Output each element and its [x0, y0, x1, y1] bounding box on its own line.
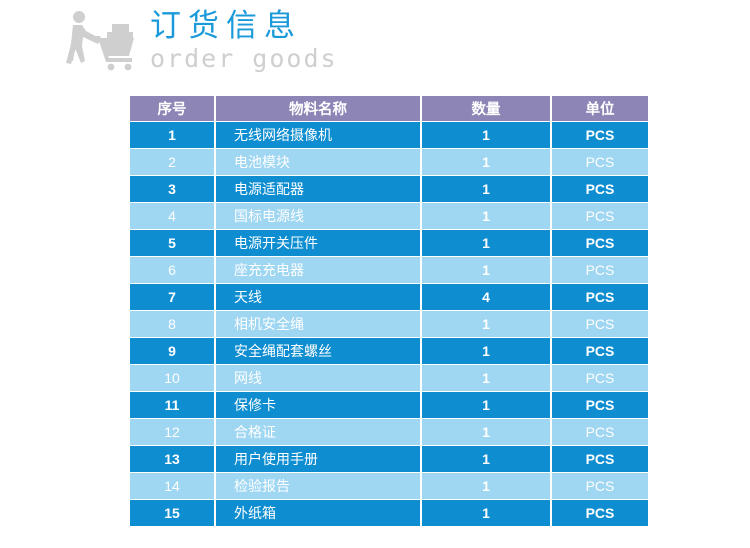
cell-quantity: 1: [422, 122, 550, 148]
table-row: 5电源开关压件1PCS: [130, 230, 648, 256]
cell-index: 5: [130, 230, 214, 256]
cell-quantity: 1: [422, 473, 550, 499]
table-row: 3电源适配器1PCS: [130, 176, 648, 202]
cell-quantity: 1: [422, 230, 550, 256]
cell-index: 8: [130, 311, 214, 337]
cell-unit: PCS: [552, 203, 648, 229]
column-header-index: 序号: [130, 96, 214, 121]
column-header-qty: 数量: [422, 96, 550, 121]
cell-index: 15: [130, 500, 214, 526]
cell-material-name: 座充充电器: [216, 257, 420, 283]
cell-unit: PCS: [552, 149, 648, 175]
table-row: 10网线1PCS: [130, 365, 648, 391]
table-row: 13用户使用手册1PCS: [130, 446, 648, 472]
cell-unit: PCS: [552, 338, 648, 364]
cell-material-name: 网线: [216, 365, 420, 391]
table-header-row: 序号 物料名称 数量 单位: [130, 96, 648, 121]
cell-index: 3: [130, 176, 214, 202]
cell-material-name: 保修卡: [216, 392, 420, 418]
cell-unit: PCS: [552, 284, 648, 310]
table-row: 12合格证1PCS: [130, 419, 648, 445]
table-row: 1无线网络摄像机1PCS: [130, 122, 648, 148]
order-goods-table: 序号 物料名称 数量 单位 1无线网络摄像机1PCS2电池模块1PCS3电源适配…: [128, 95, 650, 527]
cell-material-name: 相机安全绳: [216, 311, 420, 337]
cell-unit: PCS: [552, 122, 648, 148]
cell-unit: PCS: [552, 392, 648, 418]
table-row: 6座充充电器1PCS: [130, 257, 648, 283]
cell-quantity: 1: [422, 257, 550, 283]
cell-material-name: 外纸箱: [216, 500, 420, 526]
page-title: 订货信息: [150, 8, 338, 44]
cell-unit: PCS: [552, 419, 648, 445]
column-header-name: 物料名称: [216, 96, 420, 121]
cell-unit: PCS: [552, 230, 648, 256]
cell-quantity: 4: [422, 284, 550, 310]
cell-unit: PCS: [552, 500, 648, 526]
table-row: 9安全绳配套螺丝1PCS: [130, 338, 648, 364]
table-row: 11保修卡1PCS: [130, 392, 648, 418]
table-row: 8相机安全绳1PCS: [130, 311, 648, 337]
cell-quantity: 1: [422, 338, 550, 364]
cell-index: 9: [130, 338, 214, 364]
cell-index: 1: [130, 122, 214, 148]
cell-material-name: 天线: [216, 284, 420, 310]
cell-index: 11: [130, 392, 214, 418]
cell-unit: PCS: [552, 257, 648, 283]
table-body: 1无线网络摄像机1PCS2电池模块1PCS3电源适配器1PCS4国标电源线1PC…: [130, 122, 648, 526]
cell-material-name: 无线网络摄像机: [216, 122, 420, 148]
column-header-unit: 单位: [552, 96, 648, 121]
cell-index: 4: [130, 203, 214, 229]
header-text-block: 订货信息 order goods: [150, 6, 338, 73]
table-row: 15外纸箱1PCS: [130, 500, 648, 526]
cell-index: 14: [130, 473, 214, 499]
cell-quantity: 1: [422, 365, 550, 391]
page-subtitle: order goods: [150, 45, 338, 73]
table-row: 4国标电源线1PCS: [130, 203, 648, 229]
cell-unit: PCS: [552, 446, 648, 472]
cell-index: 7: [130, 284, 214, 310]
cell-material-name: 电源适配器: [216, 176, 420, 202]
table-row: 7天线4PCS: [130, 284, 648, 310]
cell-quantity: 1: [422, 392, 550, 418]
cell-material-name: 用户使用手册: [216, 446, 420, 472]
cell-index: 10: [130, 365, 214, 391]
cell-material-name: 安全绳配套螺丝: [216, 338, 420, 364]
cell-quantity: 1: [422, 500, 550, 526]
cell-unit: PCS: [552, 311, 648, 337]
cell-material-name: 电源开关压件: [216, 230, 420, 256]
cell-index: 2: [130, 149, 214, 175]
shopping-cart-person-icon: [62, 6, 144, 78]
cell-index: 6: [130, 257, 214, 283]
cell-unit: PCS: [552, 176, 648, 202]
cell-quantity: 1: [422, 176, 550, 202]
cell-quantity: 1: [422, 446, 550, 472]
table-header: 序号 物料名称 数量 单位: [130, 96, 648, 121]
cell-material-name: 国标电源线: [216, 203, 420, 229]
page-header: 订货信息 order goods: [62, 6, 338, 78]
cell-index: 12: [130, 419, 214, 445]
cell-material-name: 合格证: [216, 419, 420, 445]
table-row: 14检验报告1PCS: [130, 473, 648, 499]
table-row: 2电池模块1PCS: [130, 149, 648, 175]
cell-quantity: 1: [422, 203, 550, 229]
cell-quantity: 1: [422, 419, 550, 445]
cell-quantity: 1: [422, 149, 550, 175]
cell-unit: PCS: [552, 365, 648, 391]
cell-material-name: 电池模块: [216, 149, 420, 175]
cell-unit: PCS: [552, 473, 648, 499]
cell-index: 13: [130, 446, 214, 472]
cell-quantity: 1: [422, 311, 550, 337]
cell-material-name: 检验报告: [216, 473, 420, 499]
